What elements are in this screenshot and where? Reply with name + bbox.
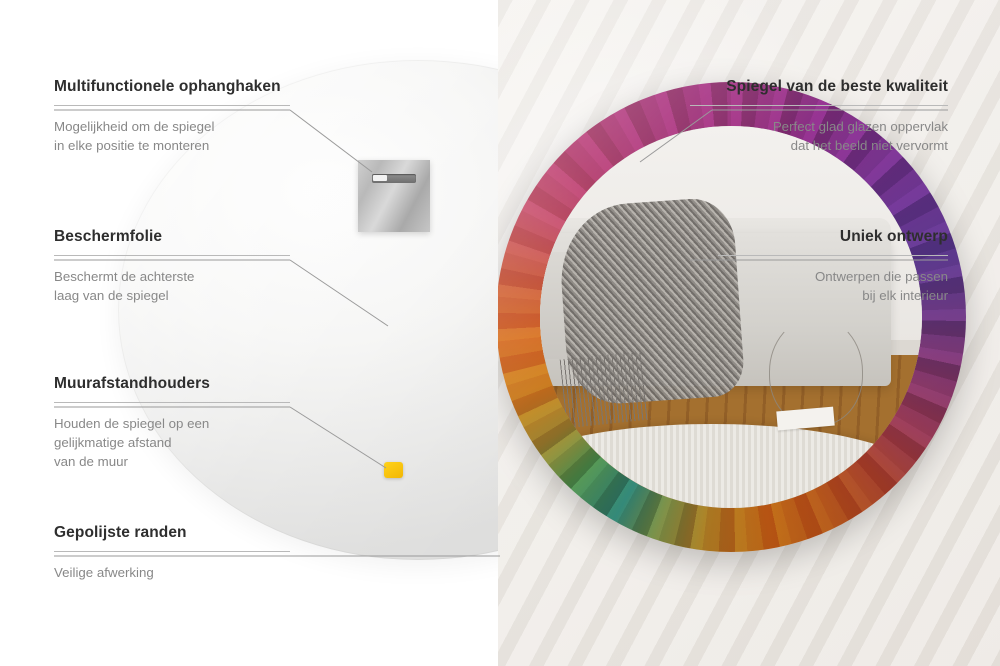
callout-divider [690, 105, 948, 106]
callout-description: Mogelijkheid om de spiegel in elke posit… [54, 117, 290, 155]
mirror-glass [540, 126, 922, 508]
callout-divider [54, 402, 290, 403]
callout-polished-edges: Gepolijste randen Veilige afwerking [54, 524, 290, 582]
callout-best-quality-mirror: Spiegel van de beste kwaliteit Perfect g… [690, 78, 948, 155]
callout-description: Ontwerpen die passen bij elk interieur [718, 267, 948, 305]
callout-description: Houden de spiegel op een gelijkmatige af… [54, 414, 290, 471]
callout-divider [54, 255, 290, 256]
callout-wall-spacers: Muurafstandhouders Houden de spiegel op … [54, 375, 290, 471]
callout-description: Perfect glad glazen oppervlak dat het be… [690, 117, 948, 155]
callout-title: Multifunctionele ophanghaken [54, 78, 290, 96]
callout-divider [718, 255, 948, 256]
callout-title: Beschermfolie [54, 228, 290, 246]
infographic-canvas: Multifunctionele ophanghaken Mogelijkhei… [0, 0, 1000, 666]
callout-description: Veilige afwerking [54, 563, 290, 582]
callout-title: Muurafstandhouders [54, 375, 290, 393]
callout-title: Spiegel van de beste kwaliteit [690, 78, 948, 96]
callout-title: Uniek ontwerp [718, 228, 948, 246]
callout-divider [54, 551, 290, 552]
callout-hanging-hooks: Multifunctionele ophanghaken Mogelijkhei… [54, 78, 290, 155]
hanging-plate [358, 160, 430, 232]
wall-spacer [384, 462, 403, 478]
hanging-slot-icon [372, 174, 416, 183]
callout-divider [54, 105, 290, 106]
callout-protective-film: Beschermfolie Beschermt de achterste laa… [54, 228, 290, 305]
callout-title: Gepolijste randen [54, 524, 290, 542]
reflection-throw-fringe [560, 351, 651, 428]
callout-description: Beschermt de achterste laag van de spieg… [54, 267, 290, 305]
callout-unique-design: Uniek ontwerp Ontwerpen die passen bij e… [718, 228, 948, 305]
